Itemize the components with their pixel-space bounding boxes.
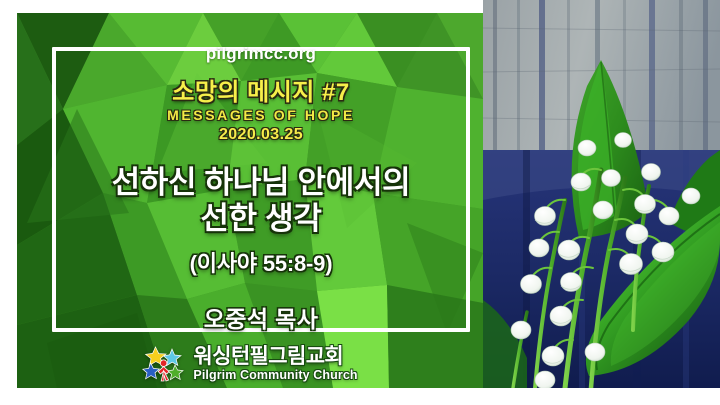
website-url: pilgrimcc.org [52,44,470,64]
church-name-english: Pilgrim Community Church [193,369,357,382]
speaker-name: 오중석 목사 [52,300,470,334]
slide-canvas: pilgrimcc.org 소망의 메시지 #7 MESSAGES OF HOP… [0,0,720,405]
church-name-korean: 워싱턴필그림교회 [193,346,357,367]
sermon-title: 선하신 하나님 안에서의 선한 생각 [52,165,470,237]
series-title-english: MESSAGES OF HOPE [52,107,470,123]
lily-of-the-valley-photo [483,0,720,388]
sermon-date: 2020.03.25 [52,126,470,144]
sermon-title-line-1: 선하신 하나님 안에서의 [52,165,470,201]
series-title-korean: 소망의 메시지 #7 [52,80,470,105]
slide-text-block: pilgrimcc.org 소망의 메시지 #7 MESSAGES OF HOP… [52,33,470,334]
church-logo-lockup: 워싱턴필그림교회 Pilgrim Community Church [17,343,483,385]
pilgrim-star-people-logo-icon [142,343,184,385]
green-background-panel: pilgrimcc.org 소망의 메시지 #7 MESSAGES OF HOP… [17,13,483,388]
church-name-block: 워싱턴필그림교회 Pilgrim Community Church [193,346,357,382]
scripture-reference: (이사야 55:8-9) [52,246,470,278]
sermon-title-line-2: 선한 생각 [52,201,470,237]
